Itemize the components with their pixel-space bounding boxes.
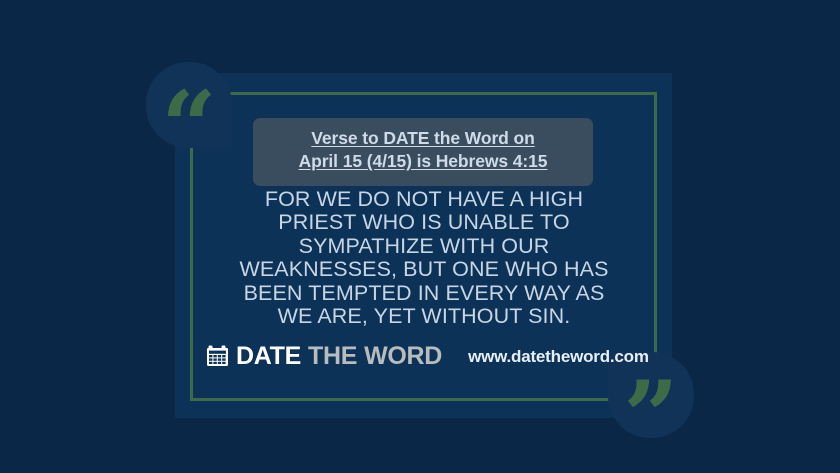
verse-line: BEEN TEMPTED IN EVERY WAY AS — [200, 282, 648, 305]
calendar-icon — [206, 343, 232, 369]
brand-name-date: DATE — [236, 344, 301, 369]
close-quote-icon: ” — [623, 369, 678, 465]
open-quote-icon: “ — [161, 79, 216, 175]
verse-line: FOR WE DO NOT HAVE A HIGH — [200, 188, 648, 211]
verse-line: SYMPATHIZE WITH OUR — [200, 235, 648, 258]
verse-text: FOR WE DO NOT HAVE A HIGH PRIEST WHO IS … — [200, 188, 648, 329]
open-quote-badge: “ — [146, 62, 232, 148]
verse-title-badge: Verse to DATE the Word on April 15 (4/15… — [253, 118, 593, 186]
brand-name-the: THE — [308, 344, 357, 369]
verse-title-line-2: April 15 (4/15) is Hebrews 4:15 — [265, 150, 581, 173]
verse-line: WE ARE, YET WITHOUT SIN. — [200, 305, 648, 328]
verse-title-line-1: Verse to DATE the Word on — [265, 127, 581, 150]
website-url: www.datetheword.com — [468, 348, 649, 365]
brand-name-word: WORD — [364, 344, 442, 369]
verse-line: WEAKNESSES, BUT ONE WHO HAS — [200, 258, 648, 281]
brand-footer: DATE THE WORD www.datetheword.com — [206, 343, 649, 369]
verse-card: “ ” Verse to DATE the Word on April 15 (… — [0, 0, 840, 473]
verse-line: PRIEST WHO IS UNABLE TO — [200, 211, 648, 234]
